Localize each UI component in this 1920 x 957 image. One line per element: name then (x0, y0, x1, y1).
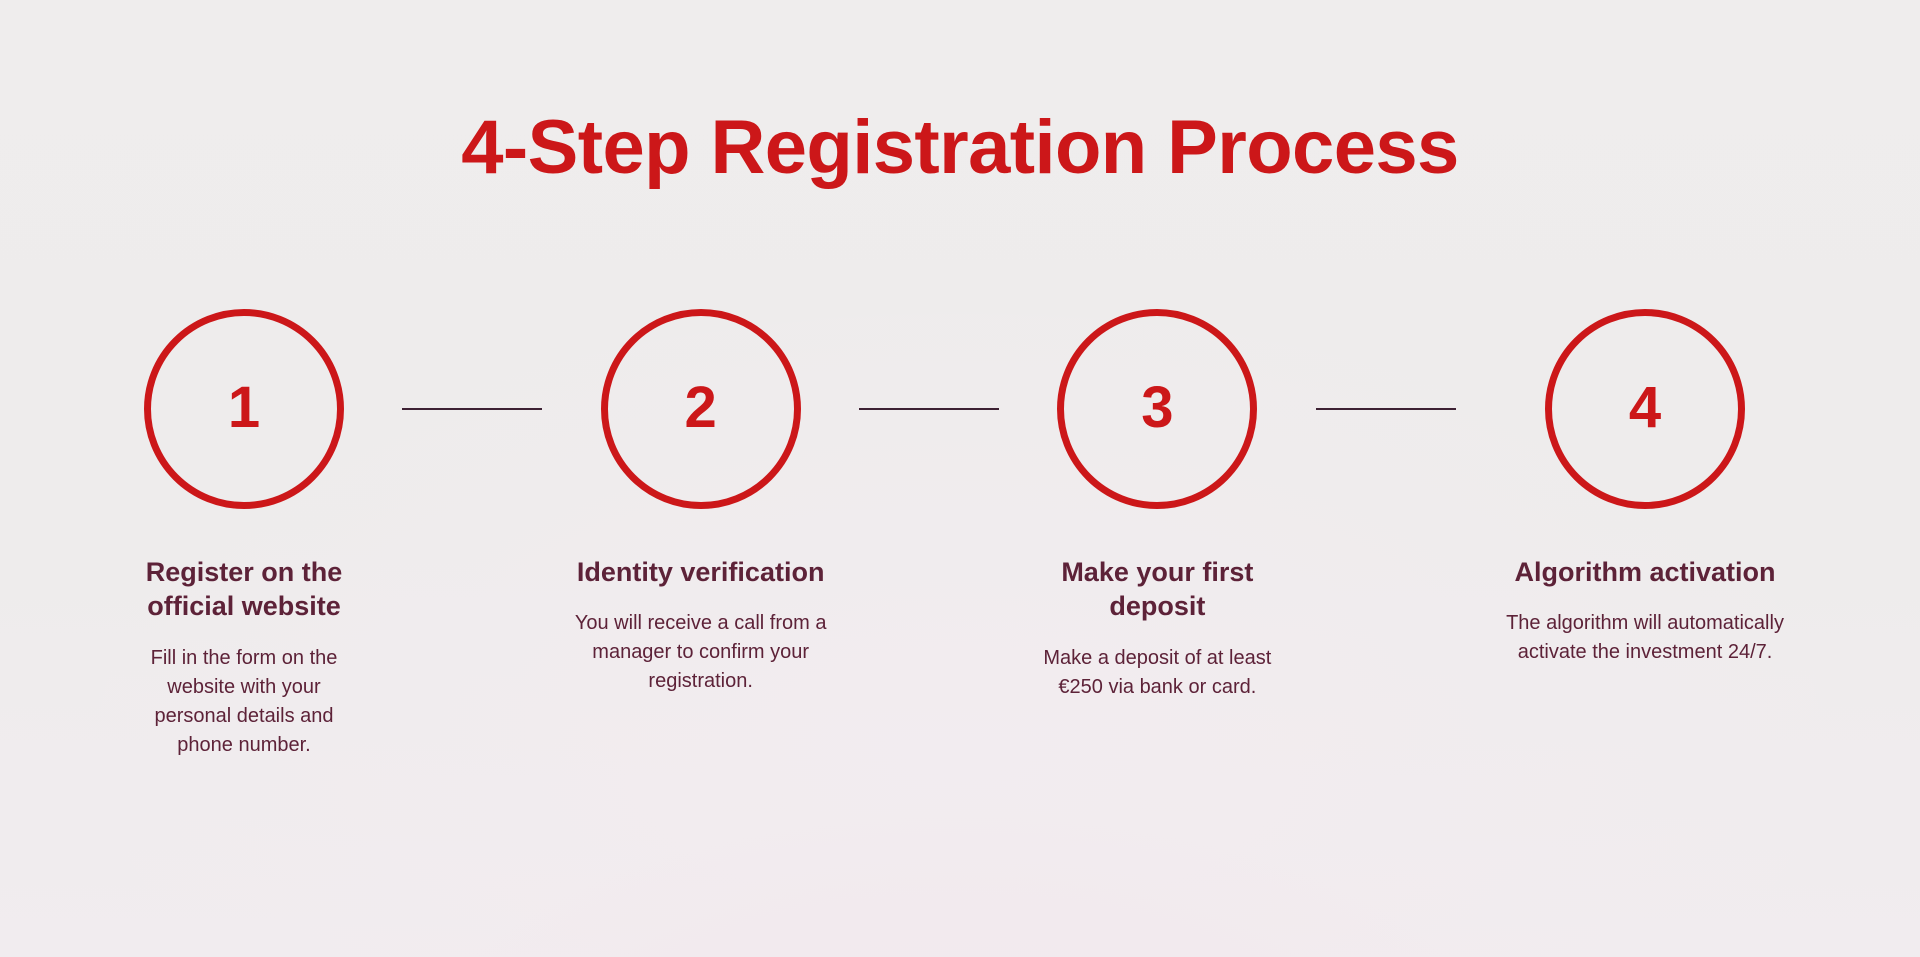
step-2-description: You will receive a call from a manager t… (567, 609, 835, 696)
step-3-heading: Make your first deposit (1026, 555, 1288, 624)
page-title: 4-Step Registration Process (461, 108, 1458, 189)
step-2-circle: 2 (601, 309, 801, 509)
step-item-1: 1 Register on the official website Fill … (110, 309, 378, 760)
connector-1-to-2 (378, 309, 567, 509)
connector-2-to-3 (835, 309, 1024, 509)
step-4-number: 4 (1629, 379, 1661, 437)
step-1-description: Fill in the form on the website with you… (137, 644, 352, 760)
connector-line-icon (859, 408, 999, 410)
step-1-circle-row: 1 (144, 309, 344, 509)
step-2-number: 2 (685, 379, 717, 437)
step-4-heading: Algorithm activation (1515, 555, 1776, 590)
step-1-number: 1 (228, 379, 260, 437)
step-item-3: 3 Make your first deposit Make a deposit… (1023, 309, 1291, 702)
steps-timeline: 1 Register on the official website Fill … (110, 309, 1810, 760)
step-4-circle-row: 4 (1545, 309, 1745, 509)
step-1-heading: Register on the official website (113, 555, 375, 624)
step-2-heading: Identity verification (577, 555, 825, 590)
step-item-4: 4 Algorithm activation The algorithm wil… (1480, 309, 1810, 668)
step-4-description: The algorithm will automatically activat… (1480, 609, 1810, 667)
connector-line-icon (402, 408, 542, 410)
step-4-circle: 4 (1545, 309, 1745, 509)
connector-line-icon (1316, 408, 1456, 410)
step-3-circle: 3 (1057, 309, 1257, 509)
step-1-circle: 1 (144, 309, 344, 509)
registration-process-infographic: 4-Step Registration Process 1 Register o… (0, 0, 1920, 957)
step-2-circle-row: 2 (601, 309, 801, 509)
step-3-number: 3 (1141, 379, 1173, 437)
connector-3-to-4 (1291, 309, 1480, 509)
step-3-circle-row: 3 (1057, 309, 1257, 509)
step-3-description: Make a deposit of at least €250 via bank… (1023, 644, 1291, 702)
step-item-2: 2 Identity verification You will receive… (567, 309, 835, 697)
